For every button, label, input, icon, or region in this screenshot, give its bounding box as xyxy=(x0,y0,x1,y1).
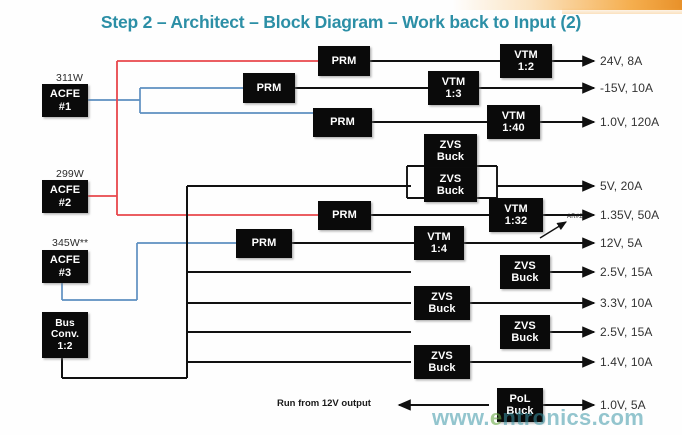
watermark: www.entronics.com xyxy=(432,405,644,431)
vtm-ratio: 1:40 xyxy=(502,122,524,134)
zvs-line2: Buck xyxy=(428,303,455,315)
output-label-1v4: 1.4V, 10A xyxy=(600,355,653,369)
output-label-n15v: -15V, 10A xyxy=(600,81,653,95)
bus-conv-line2: Conv. xyxy=(51,329,79,340)
annotation-run-from-12v: Run from 12V output xyxy=(277,398,371,409)
output-label-1v35: 1.35V, 50A xyxy=(600,208,659,222)
block-prm-1v0[interactable]: PRM xyxy=(313,108,372,137)
annotation-ar2: AR#2 xyxy=(567,214,583,220)
output-label-12v: 12V, 5A xyxy=(600,236,642,250)
block-prm-1v35[interactable]: PRM xyxy=(318,201,371,230)
vtm-label: VTM xyxy=(427,231,451,243)
block-vtm-1-3[interactable]: VTM 1:3 xyxy=(428,71,479,105)
acfe1-id: #1 xyxy=(59,101,71,113)
block-vtm-1-2[interactable]: VTM 1:2 xyxy=(500,44,552,78)
block-acfe-1[interactable]: ACFE #1 xyxy=(42,84,88,117)
vtm-label: VTM xyxy=(502,110,526,122)
acfe2-name: ACFE xyxy=(50,184,80,196)
prm-label: PRM xyxy=(332,55,357,67)
output-label-24v: 24V, 8A xyxy=(600,54,642,68)
block-vtm-1-4[interactable]: VTM 1:4 xyxy=(414,226,464,260)
zvs-line1: ZVS xyxy=(440,173,462,185)
output-label-1v0: 1.0V, 120A xyxy=(600,115,659,129)
block-acfe-3[interactable]: ACFE #3 xyxy=(42,250,88,283)
prm-label: PRM xyxy=(252,237,277,249)
block-vtm-1-32[interactable]: VTM 1:32 xyxy=(489,198,543,232)
bus-conv-line1: Bus xyxy=(55,318,75,329)
output-label-3v3: 3.3V, 10A xyxy=(600,296,653,310)
vtm-label: VTM xyxy=(442,76,466,88)
block-prm-12v[interactable]: PRM xyxy=(236,229,292,258)
block-bus-converter[interactable]: Bus Conv. 1:2 xyxy=(42,312,88,358)
bus-conv-line3: 1:2 xyxy=(57,341,72,352)
prm-label: PRM xyxy=(257,82,282,94)
wire-ar2-callout xyxy=(540,222,566,238)
acfe2-id: #2 xyxy=(59,197,71,209)
output-label-2v5-a: 2.5V, 15A xyxy=(600,265,653,279)
zvs-line1: ZVS xyxy=(514,260,536,272)
vtm-ratio: 1:4 xyxy=(431,243,447,255)
output-label-2v5-b: 2.5V, 15A xyxy=(600,325,653,339)
block-zvs-buck-3v3[interactable]: ZVS Buck xyxy=(414,286,470,320)
block-acfe-2[interactable]: ACFE #2 xyxy=(42,180,88,213)
prm-label: PRM xyxy=(330,116,355,128)
vtm-ratio: 1:3 xyxy=(445,88,461,100)
block-zvs-buck-5v-b[interactable]: ZVS Buck xyxy=(424,168,477,202)
acfe1-name: ACFE xyxy=(50,88,80,100)
block-zvs-buck-2v5-b[interactable]: ZVS Buck xyxy=(500,315,550,349)
zvs-line2: Buck xyxy=(437,185,464,197)
zvs-line1: ZVS xyxy=(431,291,453,303)
zvs-line1: ZVS xyxy=(431,350,453,362)
power-label-acfe1: 311W xyxy=(56,72,83,84)
block-diagram-canvas: Step 2 – Architect – Block Diagram – Wor… xyxy=(0,0,682,435)
zvs-line2: Buck xyxy=(437,151,464,163)
zvs-line1: ZVS xyxy=(440,139,462,151)
block-prm-24v[interactable]: PRM xyxy=(318,46,370,76)
block-prm-n15v[interactable]: PRM xyxy=(243,73,295,103)
zvs-line2: Buck xyxy=(511,272,538,284)
vtm-ratio: 1:32 xyxy=(505,215,527,227)
vtm-label: VTM xyxy=(514,49,538,61)
power-label-acfe2: 299W xyxy=(56,168,84,180)
block-zvs-buck-5v-a[interactable]: ZVS Buck xyxy=(424,134,477,168)
output-label-5v: 5V, 20A xyxy=(600,179,642,193)
block-vtm-1-40[interactable]: VTM 1:40 xyxy=(487,105,540,139)
acfe3-name: ACFE xyxy=(50,254,80,266)
block-zvs-buck-2v5-a[interactable]: ZVS Buck xyxy=(500,255,550,289)
zvs-line2: Buck xyxy=(511,332,538,344)
watermark-pre: www. xyxy=(432,405,490,430)
zvs-line1: ZVS xyxy=(514,320,536,332)
watermark-post: ntronics.com xyxy=(502,405,644,430)
watermark-accent: e xyxy=(490,405,503,430)
zvs-line2: Buck xyxy=(428,362,455,374)
pol-line1: PoL xyxy=(509,393,530,405)
vtm-label: VTM xyxy=(504,203,528,215)
acfe3-id: #3 xyxy=(59,267,71,279)
vtm-ratio: 1:2 xyxy=(518,61,534,73)
power-label-acfe3: 345W** xyxy=(52,237,88,249)
prm-label: PRM xyxy=(332,209,357,221)
wire-trunk-branches xyxy=(187,186,411,362)
block-zvs-buck-1v4[interactable]: ZVS Buck xyxy=(414,345,470,379)
